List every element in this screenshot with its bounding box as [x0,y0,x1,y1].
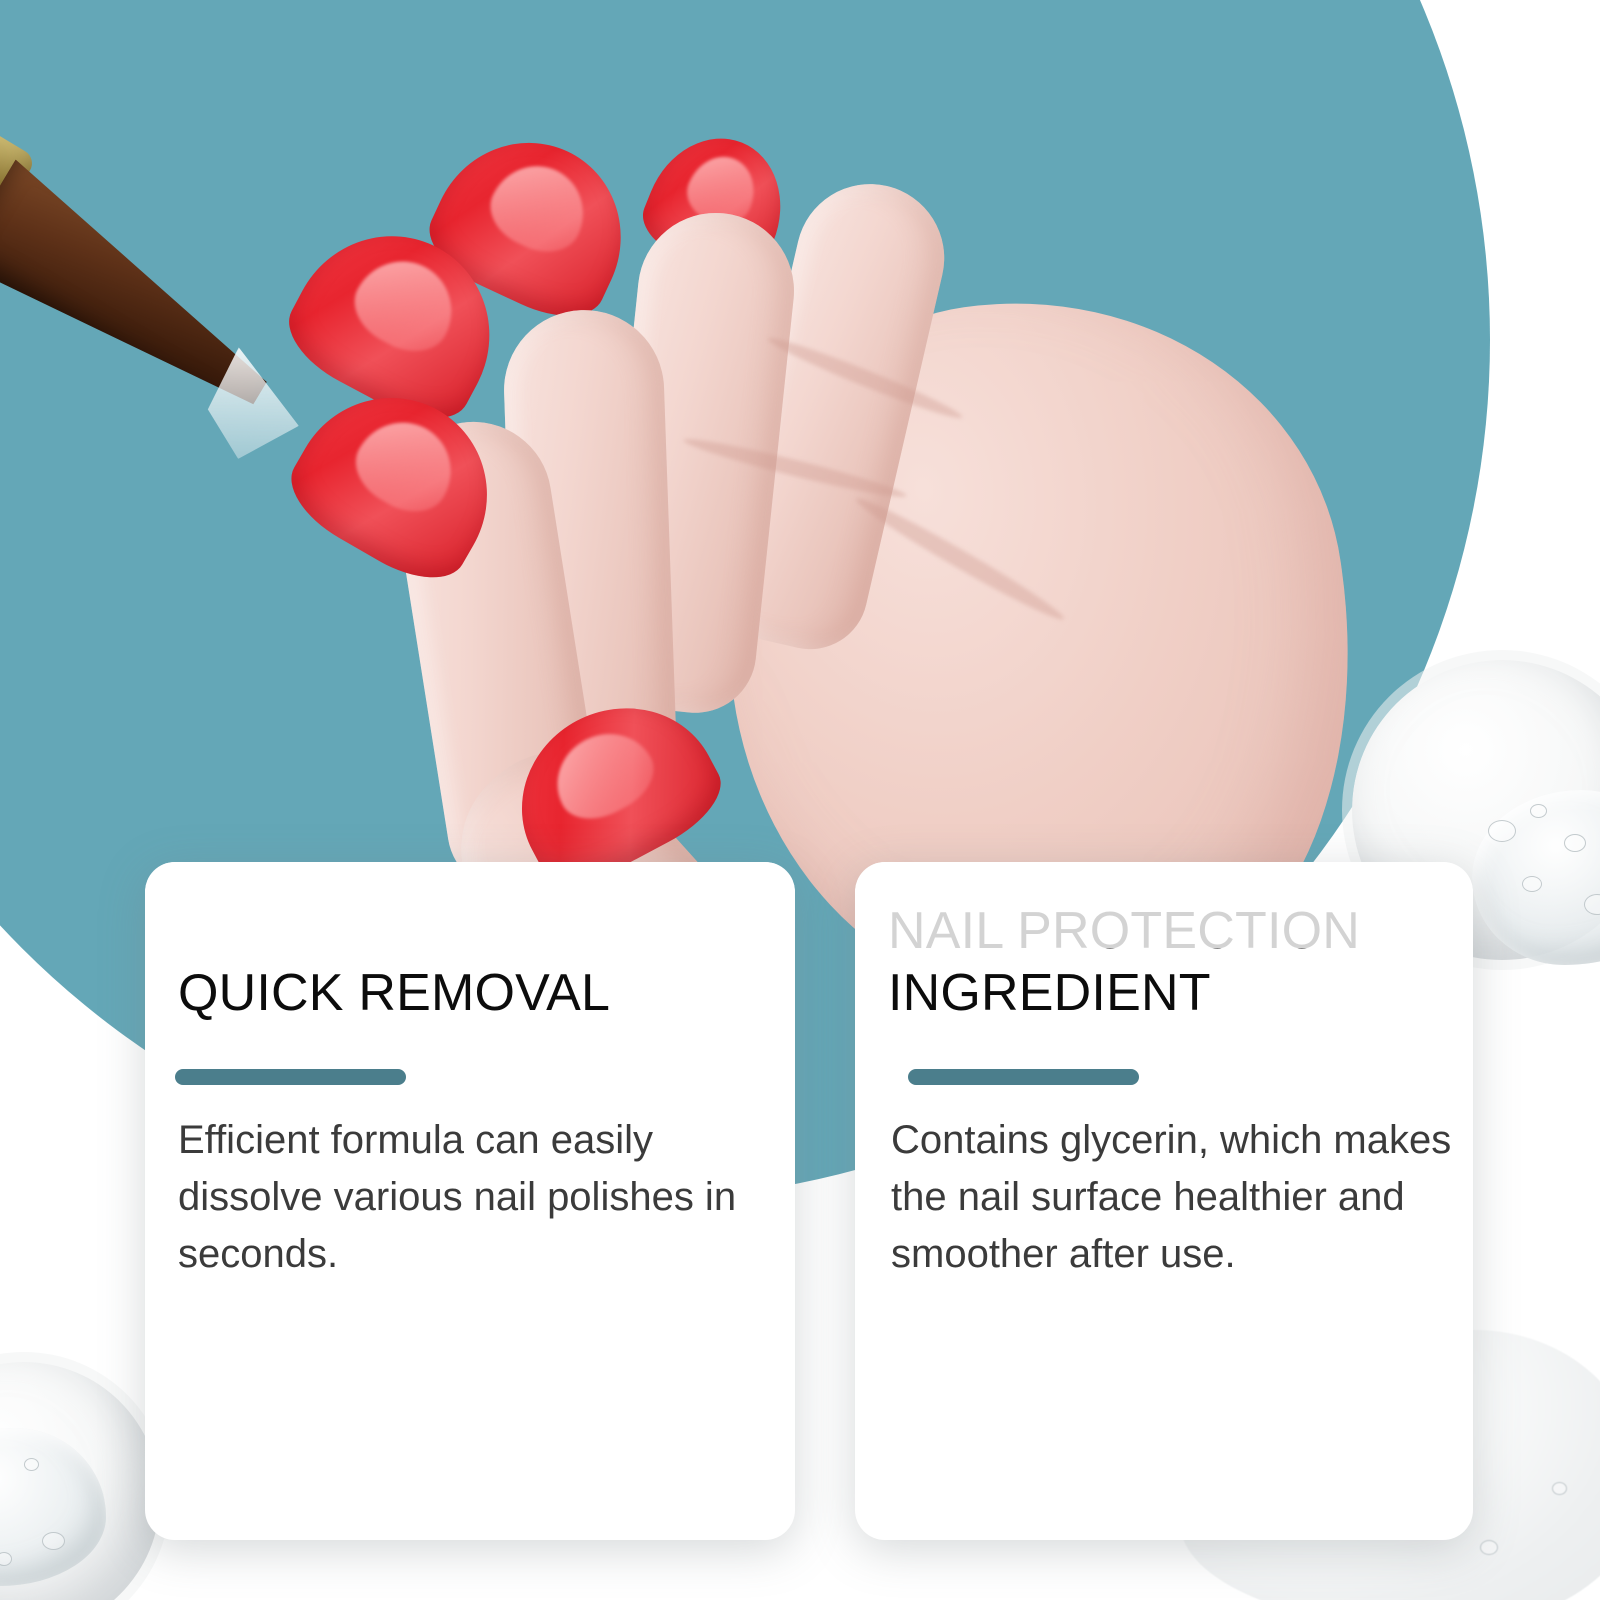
card-content: QUICK REMOVAL Efficient formula can easi… [145,862,795,1540]
gel-bubble [1530,804,1547,818]
gel-bubble [1522,876,1542,892]
card-accent-divider [175,1069,406,1085]
card-accent-divider [908,1069,1139,1085]
card-title: QUICK REMOVAL [178,962,775,1024]
gel-bubble [24,1458,39,1471]
card-title: NAIL PROTECTION INGREDIENT [888,900,1453,1024]
gel-bubble [1480,1540,1498,1555]
gel-bubble [1584,894,1600,915]
card-body-text: Contains glycerin, which makes the nail … [891,1112,1455,1283]
gel-bubble [0,1552,12,1566]
gel-bubble [1564,834,1586,852]
hand-illustration [430,120,1330,980]
polish-brush [0,40,389,652]
card-content: NAIL PROTECTION INGREDIENT Contains glyc… [855,862,1473,1540]
product-feature-banner: QUICK REMOVAL Efficient formula can easi… [0,0,1600,1600]
feature-card-quick-removal: QUICK REMOVAL Efficient formula can easi… [145,862,795,1540]
gel-core [0,1428,106,1586]
gel-bubble [42,1532,65,1550]
gel-bubble [1552,1482,1567,1495]
gel-core [1472,790,1600,965]
gel-bubble [1488,820,1516,842]
card-body-text: Efficient formula can easily dissolve va… [178,1112,771,1283]
feature-card-nail-protection: NAIL PROTECTION INGREDIENT Contains glyc… [855,862,1473,1540]
glycerin-gel-droplet-left [0,1362,160,1600]
